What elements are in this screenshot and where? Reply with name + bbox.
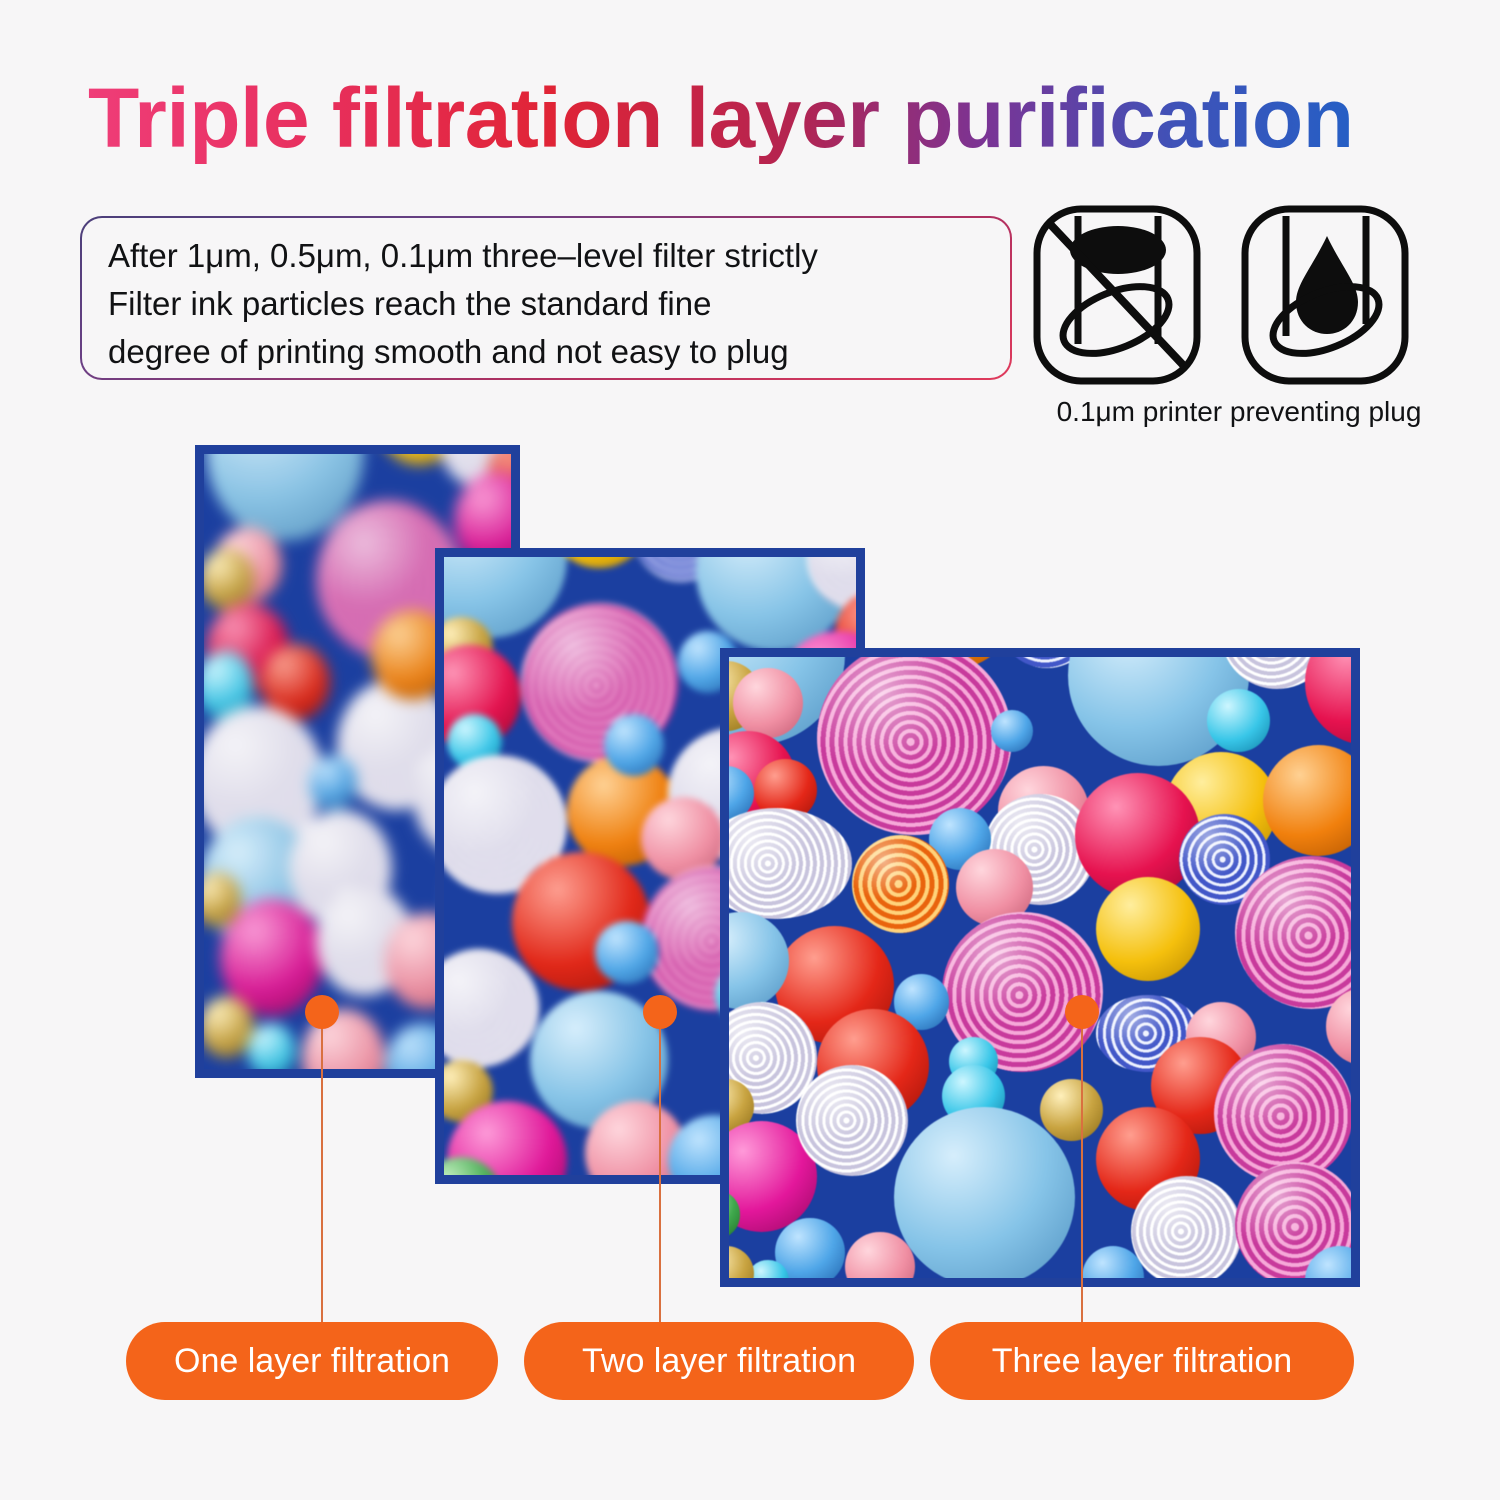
sample-panel-three-layer	[720, 648, 1360, 1287]
description-card: After 1μm, 0.5μm, 0.1μm three–level filt…	[80, 216, 1012, 380]
page-title: Triple filtration layer purification	[88, 72, 1448, 164]
callout-dot-one-layer	[305, 995, 339, 1029]
description-line-3: degree of printing smooth and not easy t…	[108, 328, 988, 376]
description-line-1: After 1μm, 0.5μm, 0.1μm three–level filt…	[108, 232, 988, 280]
description-line-2: Filter ink particles reach the standard …	[108, 280, 988, 328]
label-pill-two-layer: Two layer filtration	[524, 1322, 914, 1400]
sphere-cluster-art	[720, 648, 1360, 1287]
callout-stem-one-layer	[321, 1022, 323, 1332]
icon-group: 0.1μm printer preventing plug	[1032, 204, 1446, 434]
description-card-inner: After 1μm, 0.5μm, 0.1μm three–level filt…	[82, 218, 1010, 378]
label-pill-one-layer: One layer filtration	[126, 1322, 498, 1400]
callout-dot-three-layer	[1065, 995, 1099, 1029]
callout-stem-three-layer	[1081, 1022, 1083, 1332]
callout-stem-two-layer	[659, 1022, 661, 1332]
icon-caption: 0.1μm printer preventing plug	[1032, 394, 1446, 430]
label-pill-three-layer: Three layer filtration	[930, 1322, 1354, 1400]
nozzle-clogged-crossed-out-icon	[1032, 204, 1202, 386]
nozzle-ink-droplet-icon	[1240, 204, 1410, 386]
callout-dot-two-layer	[643, 995, 677, 1029]
